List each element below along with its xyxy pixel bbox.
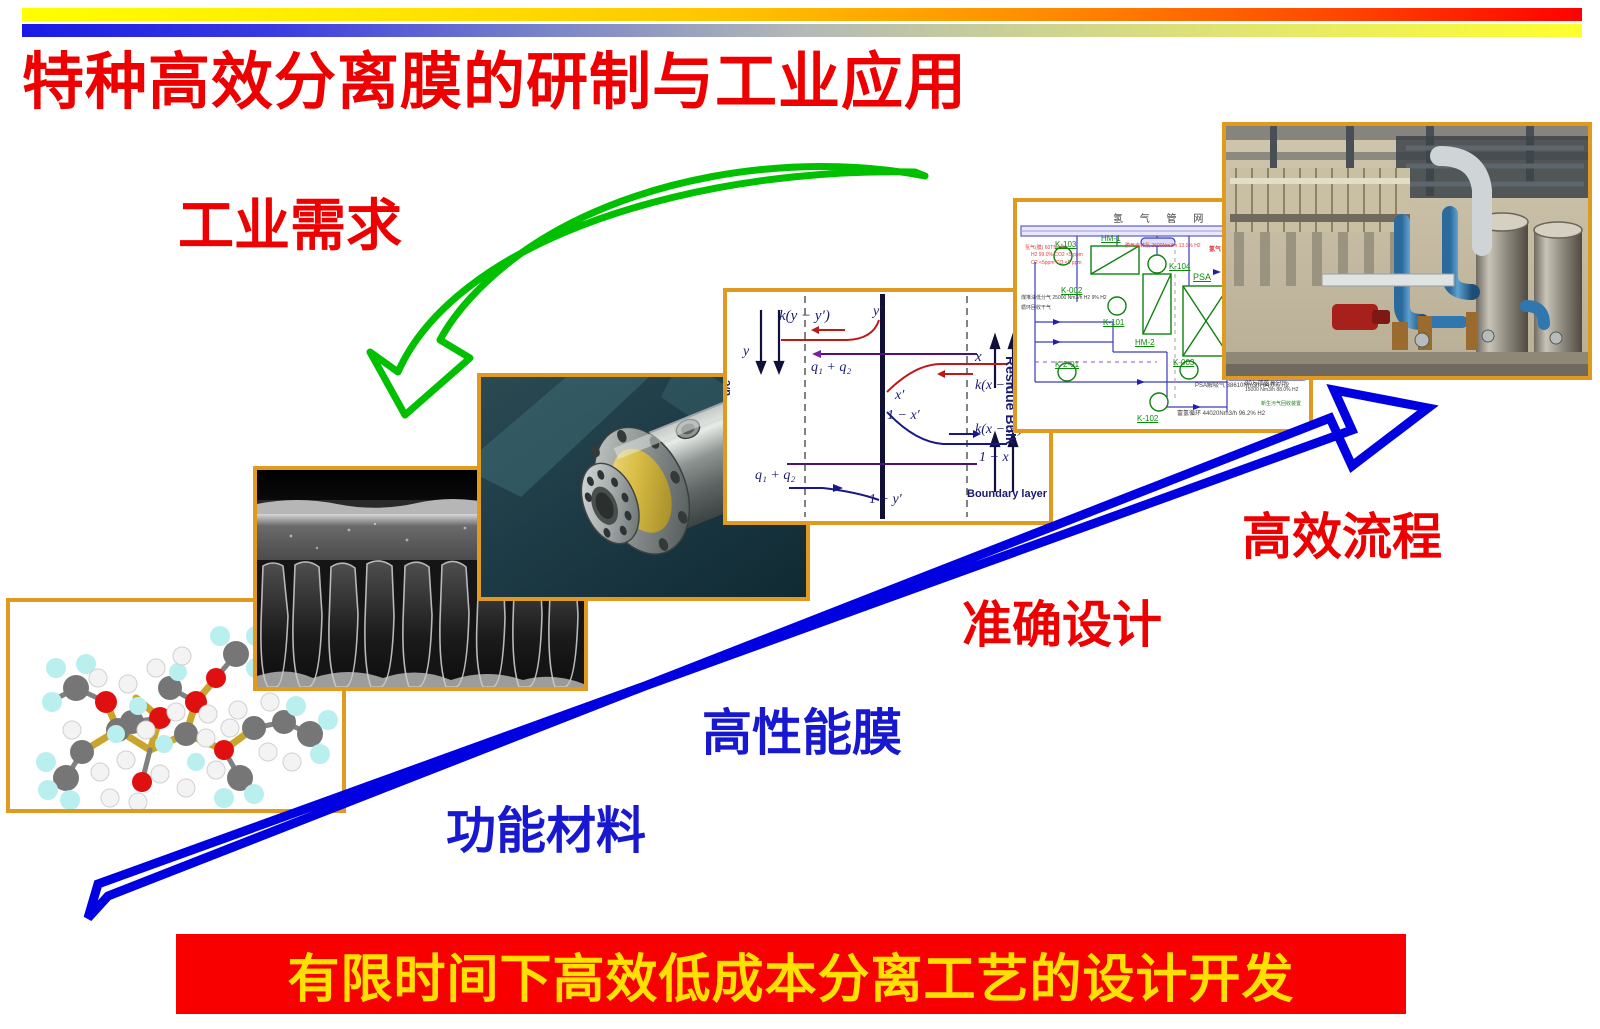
bottom-banner: 有限时间下高效低成本分离工艺的设计开发 [176,934,1406,1014]
pfd-tag-hm1: HM-1 [1101,234,1121,243]
pfd-header: 氢 气 管 网 [1113,210,1210,225]
bottom-banner-text: 有限时间下高效低成本分离工艺的设计开发 [287,937,1294,1012]
diagram-equation-q-lower: q₁ + q₂ [755,468,795,484]
diagram-symbol-one-minus-x: 1 − x [979,450,1009,466]
panel-industrial-plant [1222,122,1592,380]
diagram-symbol-y: y [743,344,749,360]
label-accurate-design: 准确设计 [962,600,1162,650]
pfd-stream-23: 新生污气回收装置 [1261,400,1301,407]
diagram-symbol-one-minus-y-prime: 1 − y′ [869,492,902,508]
decorative-bar-second [22,24,1582,37]
pfd-stream-22: 富氢循环 44020Nm3/h 96.2% H2 [1177,408,1265,417]
slide-root: 特种高效分离膜的研制与工业应用 [0,0,1600,1029]
pfd-tag-k103: K-103 [1055,240,1076,249]
pfd-stream-3: 煤堆油低分气 25000 Nm3/h H2 9% H2 [1021,294,1107,301]
pfd-stream-2: O2 <5ppm CO <5 ppm [1031,260,1082,266]
pfd-tag-k102: K-102 [1137,414,1158,423]
page-title: 特种高效分离膜的研制与工业应用 [22,52,967,114]
diagram-equation-q-upper: q₁ + q₂ [811,360,851,376]
decorative-bar-top [22,8,1582,21]
industrial-plant-photo [1226,126,1588,376]
pfd-tag-k003: K-003 [1173,358,1194,367]
panel-mass-transfer-diagram: k(y − y′) y y′ q₁ + q₂ x x′ k(x − x′) k(… [723,288,1053,525]
label-high-performance-membrane: 高性能膜 [702,708,902,758]
pfd-stream-4: 循环回收干气 [1021,304,1051,311]
pfd-tag-k002: K-002 [1061,286,1082,295]
pfd-tag-psa: PSA [1193,272,1211,282]
mass-transfer-diagram [727,292,1049,521]
diagram-symbol-x: x [975,349,982,366]
pfd-stream-21: PSA解吸气 38610Nm3/h 64.0% H2 [1195,380,1289,389]
pfd-tag-k101: K-101 [1103,318,1124,327]
diagram-symbol-x-prime: x′ [895,388,904,404]
diagram-label-boundary-layer: Boundary layer [967,488,1047,500]
diagram-equation-k-y: k(y − y′) [779,308,830,325]
label-efficient-process: 高效流程 [1242,512,1442,562]
pfd-stream-5: 膜气去转氢 2600Nm3/h 13.0% H2 [1125,242,1201,249]
pfd-stream-1: H2 99.0% CO2 <5 ppm [1031,252,1083,258]
label-industrial-demand: 工业需求 [178,198,402,254]
diagram-symbol-one-minus-x-prime: 1 − x′ [887,408,920,424]
diagram-symbol-y-prime: y′ [873,304,882,320]
pfd-tag-k104: K-104 [1169,262,1190,271]
pfd-tag-hm2: HM-2 [1135,338,1155,347]
label-functional-material: 功能材料 [446,806,646,856]
pfd-tag-k201: K-2-01 [1055,360,1079,369]
diagram-axis-label: u/c [723,380,733,396]
